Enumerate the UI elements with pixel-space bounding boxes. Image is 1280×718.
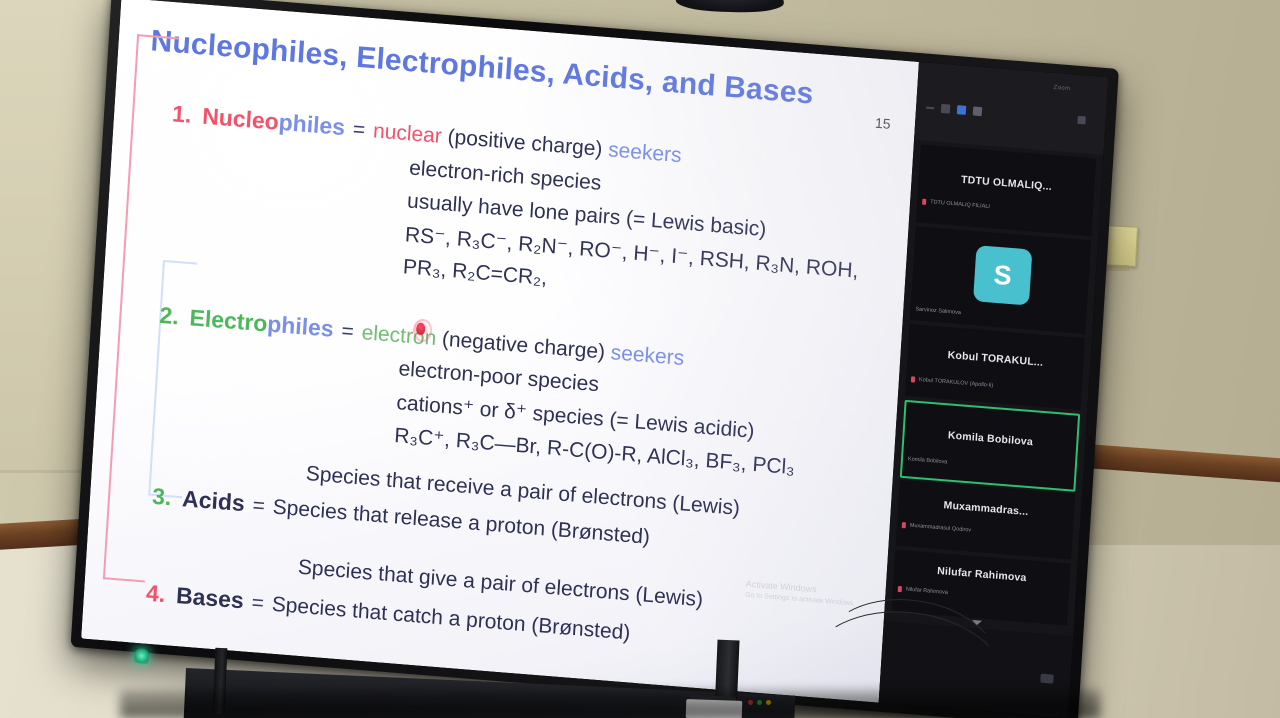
- participant-name: TDTU OLMALIQ...: [918, 170, 1094, 196]
- fullscreen-icon[interactable]: [1077, 116, 1085, 125]
- item-number: 1.: [171, 100, 192, 128]
- participant-tile-active[interactable]: Komila Bobilova Komila Bobilova: [900, 400, 1080, 492]
- participant-name: Muxammadras...: [898, 496, 1074, 522]
- window-controls[interactable]: [926, 103, 982, 116]
- participant-subtitle: Sarvinoz Salimova: [915, 306, 961, 316]
- participant-name: Nilufar Rahimova: [894, 562, 1070, 588]
- participant-subtitle: Nilufar Rahimova: [906, 587, 948, 596]
- participant-name: Komila Bobilova: [904, 426, 1076, 452]
- item-number: 4.: [145, 580, 166, 608]
- participant-subtitle: Komila Bobilova: [908, 456, 948, 465]
- interactive-display: Nucleophiles, Electrophiles, Acids, and …: [71, 0, 1119, 718]
- sticky-note-shadow: [1105, 265, 1129, 271]
- equals-sign: =: [251, 591, 265, 616]
- footer-indicator: [1040, 674, 1054, 684]
- sticky-note: [1106, 225, 1138, 267]
- video-call-brand: Zoom: [1053, 85, 1070, 92]
- video-call-toolbar: Zoom: [914, 62, 1108, 155]
- participant-subtitle: Muxammadrasul Qodirov: [910, 523, 972, 534]
- mic-muted-icon: [898, 586, 902, 592]
- equals-sign: =: [252, 494, 266, 519]
- mic-muted-icon: [902, 522, 906, 528]
- presentation-slide: Nucleophiles, Electrophiles, Acids, and …: [81, 0, 919, 703]
- item-formula-line: PR₃, R₂C=CR₂,: [402, 255, 548, 291]
- participant-tile[interactable]: S Sarvinoz Salimova: [910, 226, 1091, 334]
- mic-muted-icon: [922, 199, 926, 205]
- item-keyword: Electrophiles: [189, 304, 335, 343]
- speaker-view-icon[interactable]: [973, 106, 983, 116]
- avatar: S: [973, 245, 1032, 305]
- item-keyword: Acids: [181, 485, 245, 517]
- item-number: 2.: [159, 302, 180, 330]
- item-number: 3.: [151, 483, 172, 511]
- participant-subtitle: Kobul TORAKULOV (Apollo-Ii): [919, 377, 994, 389]
- participant-tile[interactable]: Muxammadras... Muxammadrasul Qodirov: [896, 480, 1076, 560]
- item-keyword: Nucleophiles: [201, 103, 345, 141]
- equals-sign: =: [352, 118, 366, 143]
- participant-name: Kobul TORAKUL...: [907, 346, 1083, 372]
- equals-sign: =: [341, 319, 355, 344]
- restore-icon[interactable]: [941, 104, 951, 114]
- item-definition-line: electron-poor species: [398, 357, 600, 397]
- grid-view-icon[interactable]: [957, 105, 967, 115]
- power-led-icon: [134, 648, 150, 664]
- minimize-icon[interactable]: [926, 106, 934, 109]
- participant-tile[interactable]: TDTU OLMALIQ... TDTU OLMALIQ FILIALI: [916, 144, 1096, 236]
- floor-shadow: [120, 690, 1100, 718]
- participant-tile[interactable]: Kobul TORAKUL... Kobul TORAKULOV (Apollo…: [905, 324, 1085, 410]
- mic-muted-icon: [911, 376, 915, 382]
- item-keyword: Bases: [175, 582, 244, 614]
- classroom-photo-scene: Nucleophiles, Electrophiles, Acids, and …: [0, 0, 1280, 718]
- item-definition-line: electron-rich species: [409, 156, 603, 195]
- participant-subtitle: TDTU OLMALIQ FILIALI: [930, 199, 990, 210]
